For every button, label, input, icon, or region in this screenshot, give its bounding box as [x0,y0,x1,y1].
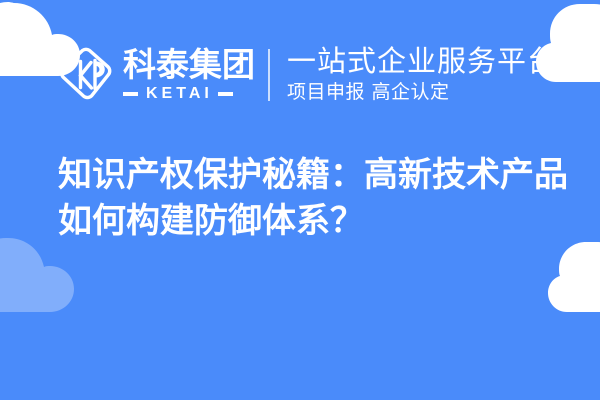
brand-name-en: KETAI [138,85,218,102]
tagline-secondary: 项目申报 高企认定 [287,80,557,105]
brand-name-cn: 科泰集团 [123,48,255,82]
brand-logo[interactable]: 科泰集团 KETAI [58,47,255,103]
cloud-icon [548,240,600,312]
wordmark-rule-left [123,92,138,96]
header-divider [268,49,270,101]
banner-header: 科泰集团 KETAI 一站式企业服务平台 项目申报 高企认定 [0,36,600,114]
tagline-primary: 一站式企业服务平台 [287,45,557,78]
brand-wordmark: 科泰集团 KETAI [123,48,255,102]
ketai-diamond-kp-icon [58,47,114,103]
wordmark-rule-right [218,92,233,96]
promo-banner: 科泰集团 KETAI 一站式企业服务平台 项目申报 高企认定 知识产权保护秘籍：… [0,0,600,400]
page-title-line-1: 知识产权保护秘籍：高新技术产品 [58,152,558,198]
tagline-block: 一站式企业服务平台 项目申报 高企认定 [287,45,557,105]
brand-name-en-row: KETAI [123,85,255,102]
page-title: 知识产权保护秘籍：高新技术产品 如何构建防御体系？ [58,152,558,244]
cloud-icon [0,236,92,312]
page-title-line-2: 如何构建防御体系？ [58,198,558,244]
